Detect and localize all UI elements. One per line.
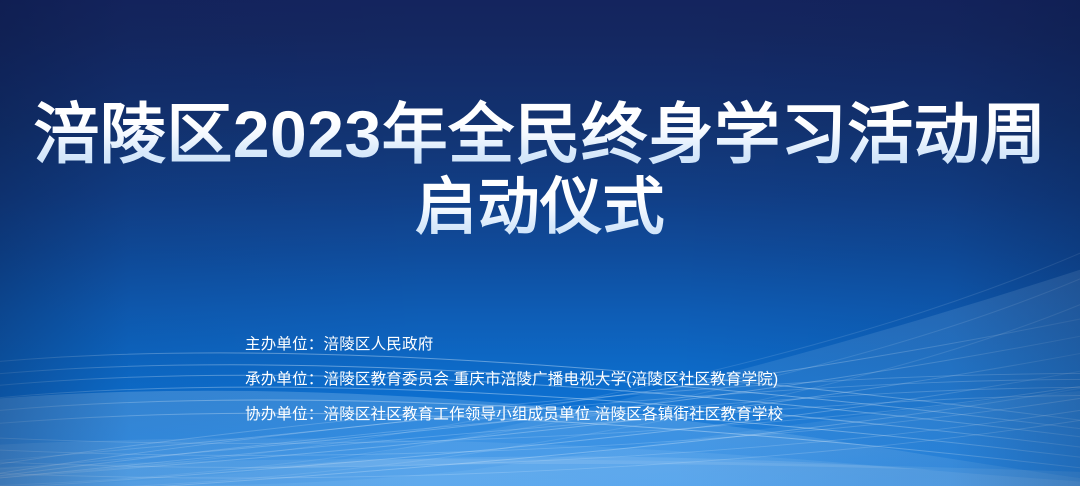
title-line-1: 涪陵区2023年全民终身学习活动周: [0, 96, 1080, 172]
organizer-list: 主办单位：涪陵区人民政府 承办单位：涪陵区教育委员会 重庆市涪陵广播电视大学(涪…: [245, 333, 783, 427]
event-poster: 涪陵区2023年全民终身学习活动周 启动仪式 主办单位：涪陵区人民政府 承办单位…: [0, 0, 1080, 486]
poster-title: 涪陵区2023年全民终身学习活动周 启动仪式: [0, 96, 1080, 244]
organizer-line-host: 主办单位：涪陵区人民政府: [245, 333, 783, 357]
organizer-line-cohost: 协办单位：涪陵区社区教育工作领导小组成员单位 涪陵区各镇街社区教育学校: [245, 403, 783, 427]
organizer-line-undertaker: 承办单位：涪陵区教育委员会 重庆市涪陵广播电视大学(涪陵区社区教育学院): [245, 368, 783, 392]
title-line-2: 启动仪式: [0, 172, 1080, 244]
